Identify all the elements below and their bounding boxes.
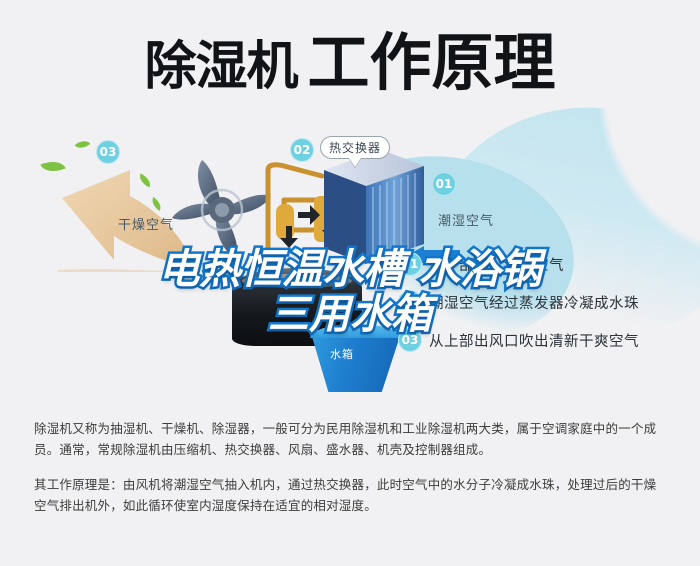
description-text: 除湿机又称为抽湿机、干燥机、除湿器，一般可分为民用除湿机和工业除湿机两大类，属于… — [34, 418, 666, 516]
step-text: 从下部吸入潮湿空气 — [429, 254, 564, 275]
list-item: 02 潮湿空气经过蒸发器冷凝成水珠 — [398, 290, 690, 314]
badge-02-heat-exchanger: 02 — [290, 138, 314, 162]
badge-03-dry-air: 03 — [96, 140, 120, 164]
step-badge: 01 — [398, 252, 422, 276]
step-badge: 02 — [398, 290, 422, 314]
water-tank-label: 水箱 — [330, 346, 354, 362]
paragraph-2: 其工作原理是：由风机将潮湿空气抽入机内，通过热交换器，此时空气中的水分子冷凝成水… — [34, 474, 666, 516]
step-text: 潮湿空气经过蒸发器冷凝成水珠 — [429, 292, 639, 313]
title-line: 除湿机工作原理 — [144, 32, 555, 94]
title-part2: 工作原理 — [308, 26, 556, 99]
paragraph-1: 除湿机又称为抽湿机、干燥机、除湿器，一般可分为民用除湿机和工业除湿机两大类，属于… — [34, 418, 666, 460]
step-list: 01 从下部吸入潮湿空气 02 潮湿空气经过蒸发器冷凝成水珠 03 从上部出风口… — [398, 252, 690, 366]
list-item: 03 从上部出风口吹出清新干爽空气 — [398, 328, 690, 352]
step-badge: 03 — [398, 328, 422, 352]
page-title: 除湿机工作原理 — [0, 20, 700, 106]
water-tank — [310, 330, 402, 392]
leaf-icon — [75, 137, 91, 152]
step-text: 从上部出风口吹出清新干爽空气 — [429, 330, 639, 351]
title-part1: 除湿机 — [144, 37, 297, 97]
list-item: 01 从下部吸入潮湿空气 — [398, 252, 690, 276]
infographic-page: 除湿机工作原理 — [0, 0, 700, 566]
bubble-heat-exchanger: 热交换器 — [320, 136, 390, 159]
badge-01-humid-air: 01 — [432, 172, 456, 196]
label-dry-air: 干燥空气 — [118, 214, 174, 233]
label-humid-air: 潮湿空气 — [438, 210, 494, 229]
